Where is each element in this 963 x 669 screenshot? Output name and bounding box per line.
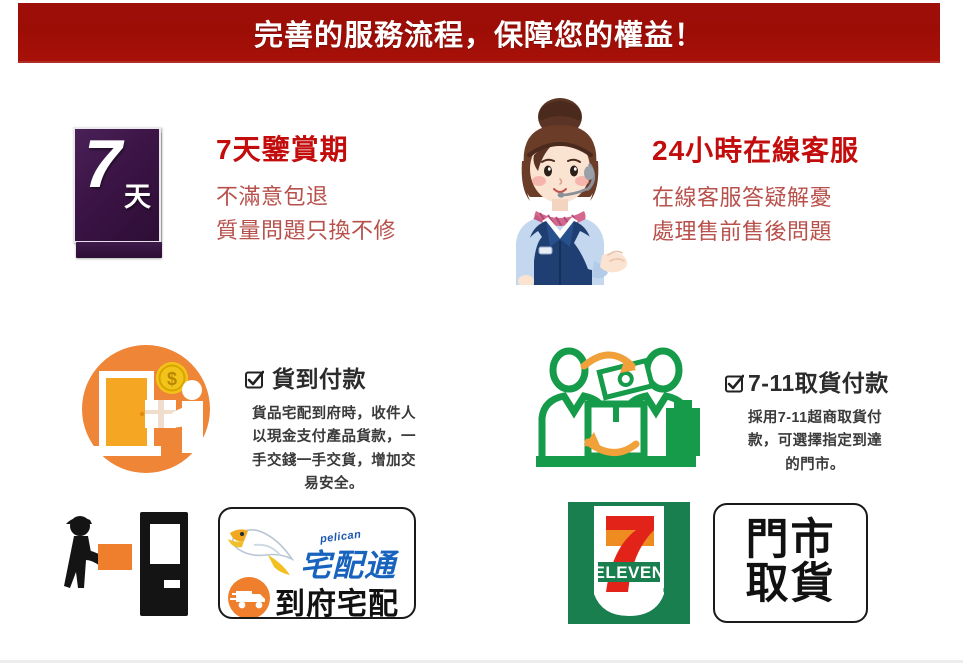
cod-desc-line-1: 貨品宅配到府時，收件人 [245, 403, 423, 426]
store-pickup-text: 門市 取貨 [715, 505, 866, 621]
seven-day-badge-base [76, 242, 162, 258]
online-service-line-1: 在線客服答疑解憂 [652, 181, 859, 215]
seven-day-badge-icon: 7 天 [72, 122, 168, 262]
seven-day-line-1: 不滿意包退 [216, 180, 396, 214]
banner-title: 完善的服務流程，保障您的權益！ [254, 12, 704, 54]
seven-eleven-wordmark: ELEVEN [593, 563, 664, 582]
seven-eleven-title-row: 7-11取貨付款 [725, 364, 905, 398]
cash-on-delivery-icon: $ [75, 338, 217, 485]
svg-text:®: ® [663, 585, 671, 597]
store-pickup-line-1: 門市 [746, 519, 836, 563]
payment-seven-eleven-pickup: 7-11取貨付款 採用7-11超商取貨付 款，可選擇指定到達 的門市。 [528, 338, 905, 483]
cod-description: 貨品宅配到府時，收件人 以現金支付產品貨款，一 手交錢一手交貨，增加交 易安全。 [245, 403, 423, 497]
seven-eleven-desc-line-3: 的門市。 [725, 454, 905, 477]
checked-box-icon [245, 368, 264, 387]
cod-desc-line-3: 手交錢一手交貨，增加交 [245, 450, 423, 473]
seven-day-digit: 7 [84, 130, 122, 198]
online-service-text-group: 24小時在線客服 在線客服答疑解憂 處理售前售後問題 [652, 95, 859, 249]
seven-eleven-desc-line-2: 款，可選擇指定到達 [725, 430, 905, 453]
seven-day-text-group: 7天鑒賞期 不滿意包退 質量問題只換不修 [216, 122, 396, 248]
bottom-divider [0, 660, 963, 663]
seven-day-headline: 7天鑒賞期 [216, 134, 396, 166]
cod-text-group: 貨到付款 貨品宅配到府時，收件人 以現金支付產品貨款，一 手交錢一手交貨，增加交… [245, 338, 423, 497]
pelican-delivery-logo[interactable]: pelican 宅配通 到府宅配 [218, 507, 416, 619]
seven-day-unit: 天 [124, 184, 151, 211]
logo-row: pelican 宅配通 到府宅配 ELEVEN ® [0, 500, 963, 630]
seven-eleven-text-group: 7-11取貨付款 採用7-11超商取貨付 款，可選擇指定到達 的門市。 [725, 338, 905, 477]
online-service-headline: 24小時在線客服 [652, 135, 859, 167]
store-pickup-line-2: 取貨 [746, 563, 836, 607]
header-banner: 完善的服務流程，保障您的權益！ [18, 3, 940, 63]
courier-at-door-icon [58, 508, 188, 625]
feature-seven-day-return: 7 天 7天鑒賞期 不滿意包退 質量問題只換不修 [72, 122, 396, 262]
delivery-truck-icon [228, 577, 270, 619]
seven-eleven-logo[interactable]: ELEVEN ® [568, 502, 690, 629]
cod-title-row: 貨到付款 [245, 360, 423, 394]
feature-row-top: 7 天 7天鑒賞期 不滿意包退 質量問題只換不修 [0, 90, 963, 295]
store-pickup-exchange-icon [528, 338, 703, 483]
checked-box-icon [725, 372, 744, 391]
feature-online-service: 24小時在線客服 在線客服答疑解憂 處理售前售後問題 [490, 95, 859, 285]
payment-row: $ 貨到付款 [0, 330, 963, 490]
seven-eleven-title: 7-11取貨付款 [748, 364, 889, 398]
seven-eleven-description: 採用7-11超商取貨付 款，可選擇指定到達 的門市。 [725, 407, 905, 477]
payment-cash-on-delivery: $ 貨到付款 [75, 338, 423, 497]
cod-desc-line-4: 易安全。 [245, 473, 423, 496]
customer-service-agent-icon [490, 95, 630, 285]
cod-desc-line-2: 以現金支付產品貨款，一 [245, 426, 423, 449]
svg-text:$: $ [167, 369, 177, 389]
seven-day-line-2: 質量問題只換不修 [216, 214, 396, 248]
online-service-line-2: 處理售前售後問題 [652, 215, 859, 249]
seven-eleven-desc-line-1: 採用7-11超商取貨付 [725, 407, 905, 430]
cod-title: 貨到付款 [272, 360, 366, 394]
pelican-service-text: 到府宅配 [275, 579, 399, 619]
store-pickup-logo[interactable]: 門市 取貨 [713, 503, 868, 623]
